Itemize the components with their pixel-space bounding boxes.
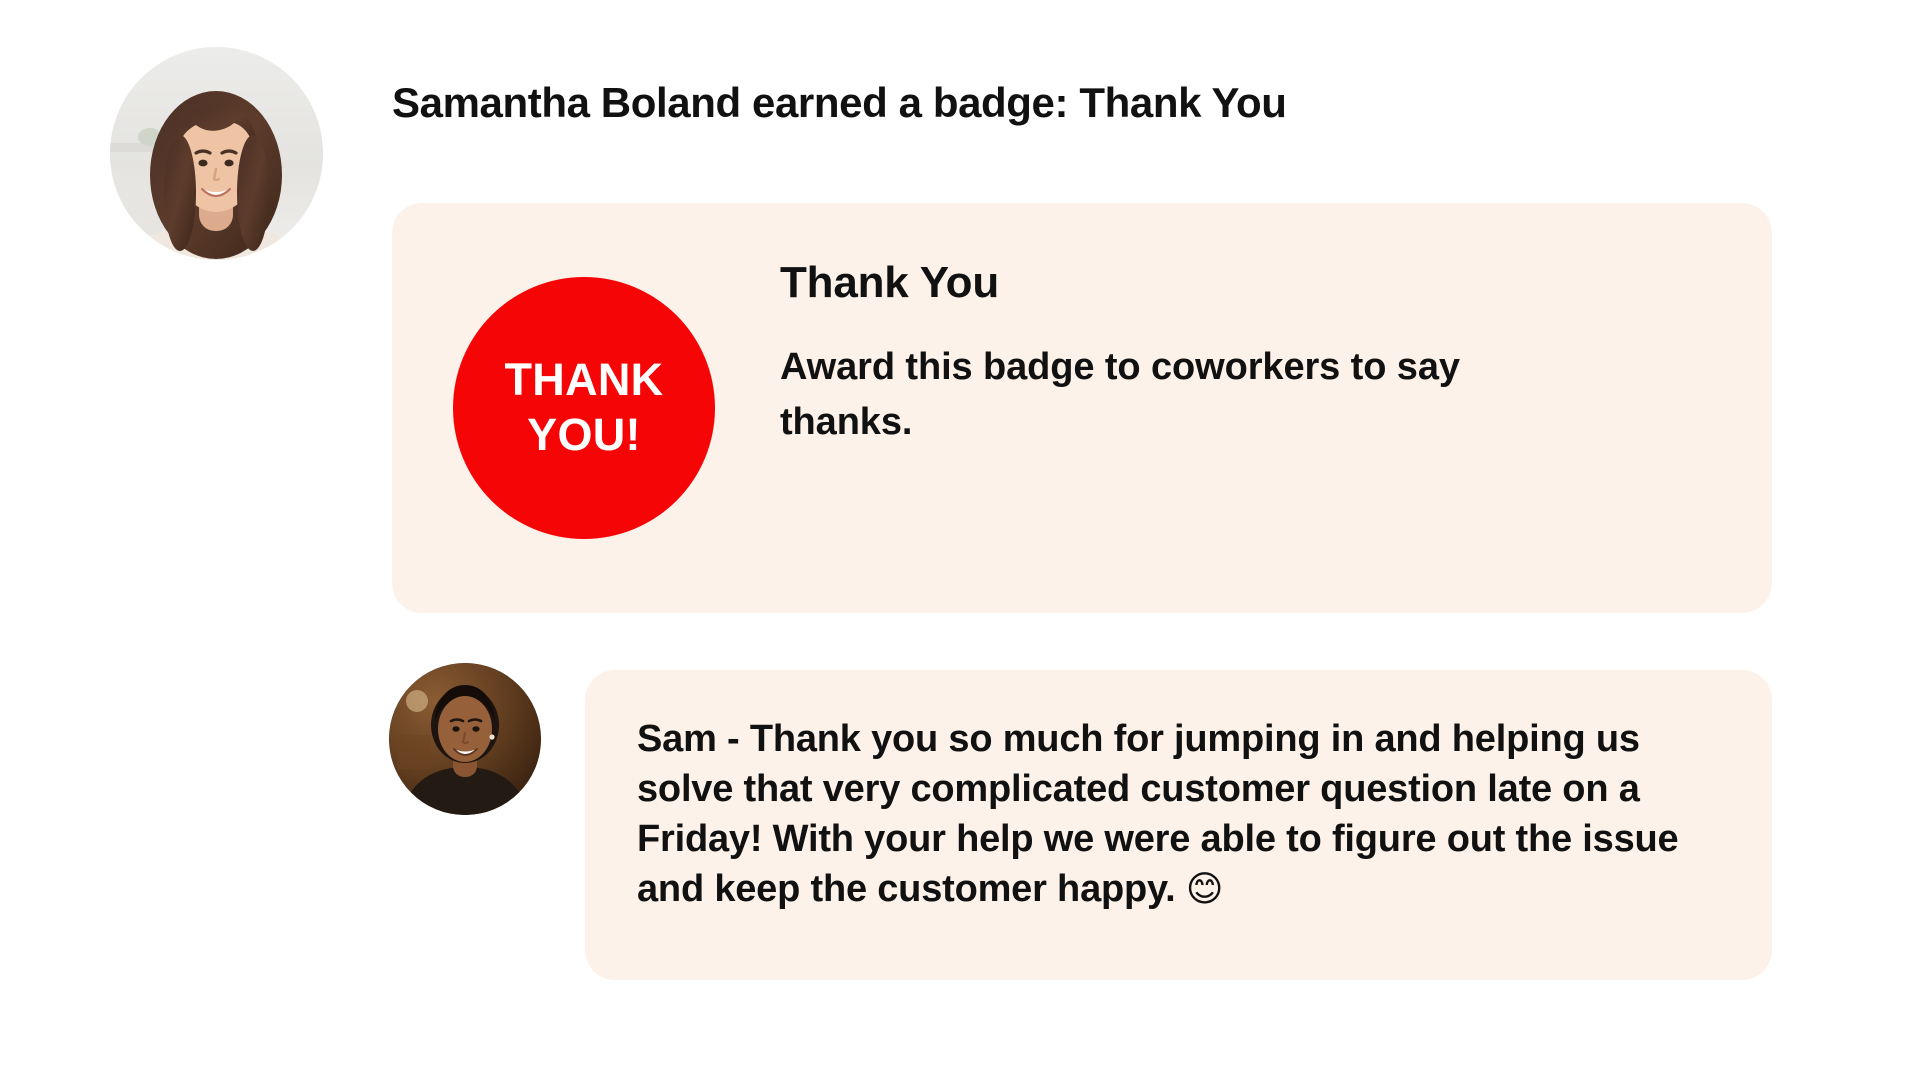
message-text: Sam - Thank you so much for jumping in a… — [637, 714, 1720, 915]
sender-avatar[interactable] — [389, 663, 541, 815]
badge-medal-line-2: YOU! — [527, 408, 641, 463]
badge-info: Thank You Award this badge to coworkers … — [780, 255, 1620, 450]
badge-title: Thank You — [780, 255, 1620, 310]
avatar-photo-woman-smiling-icon — [110, 47, 323, 260]
badge-medal-line-1: THANK — [505, 353, 664, 408]
message-body: Sam - Thank you so much for jumping in a… — [637, 718, 1678, 910]
smiling-face-emoji-icon: 😊 — [1186, 869, 1223, 910]
author-avatar[interactable] — [110, 47, 323, 260]
avatar-photo-woman-smiling-dark-top-icon — [389, 663, 541, 815]
badge-medal-icon: THANK YOU! — [453, 277, 715, 539]
post-headline: Samantha Boland earned a badge: Thank Yo… — [392, 78, 1287, 128]
badge-card[interactable]: THANK YOU! Thank You Award this badge to… — [392, 203, 1772, 613]
post-header: Samantha Boland earned a badge: Thank Yo… — [0, 0, 1920, 230]
post-page: Samantha Boland earned a badge: Thank Yo… — [0, 0, 1920, 1080]
badge-description: Award this badge to coworkers to say tha… — [780, 340, 1580, 450]
message-bubble: Sam - Thank you so much for jumping in a… — [585, 670, 1772, 980]
